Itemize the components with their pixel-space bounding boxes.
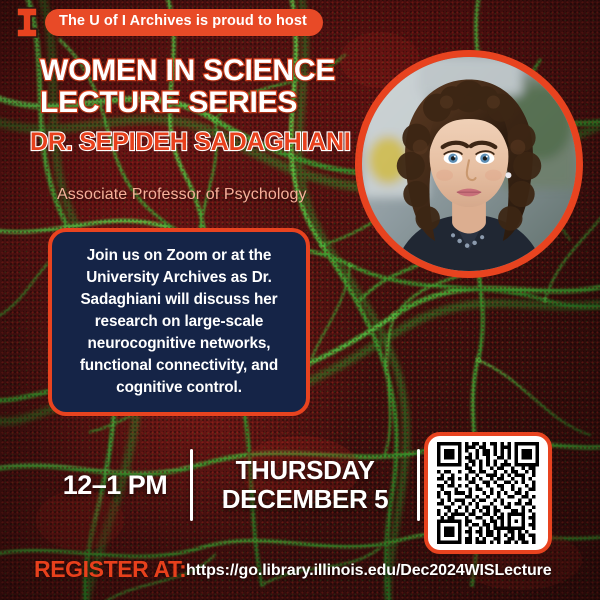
- series-title-line1: WOMEN IN SCIENCE: [40, 55, 370, 87]
- poster-root: The U of I Archives is proud to host WOM…: [0, 0, 600, 600]
- speaker-portrait: [355, 50, 583, 278]
- event-date: THURSDAY DECEMBER 5: [193, 456, 417, 514]
- event-day: THURSDAY: [199, 456, 411, 485]
- when-divider-right: [417, 449, 420, 521]
- description-text: Join us on Zoom or at the University Arc…: [66, 245, 292, 398]
- event-time: 12–1 PM: [40, 470, 190, 501]
- register-label: REGISTER AT:: [34, 556, 186, 583]
- series-title-line2: LECTURE SERIES: [40, 87, 370, 119]
- event-when-row: 12–1 PM THURSDAY DECEMBER 5: [40, 444, 420, 526]
- header-banner: The U of I Archives is proud to host: [16, 7, 323, 38]
- register-url[interactable]: https://go.library.illinois.edu/Dec2024W…: [186, 562, 552, 580]
- qr-code-card[interactable]: [424, 432, 552, 554]
- speaker-role: Associate Professor of Psychology: [57, 186, 307, 204]
- page-title: WOMEN IN SCIENCE LECTURE SERIES: [40, 55, 370, 119]
- speaker-name: DR. SEPIDEH SADAGHIANI: [30, 128, 390, 157]
- speaker-portrait-image: [362, 57, 576, 271]
- event-date-value: DECEMBER 5: [199, 485, 411, 514]
- qr-code-icon[interactable]: [434, 442, 542, 544]
- illinois-block-i-icon: [16, 7, 38, 38]
- header-pill-text: The U of I Archives is proud to host: [45, 9, 323, 36]
- description-card: Join us on Zoom or at the University Arc…: [48, 228, 310, 416]
